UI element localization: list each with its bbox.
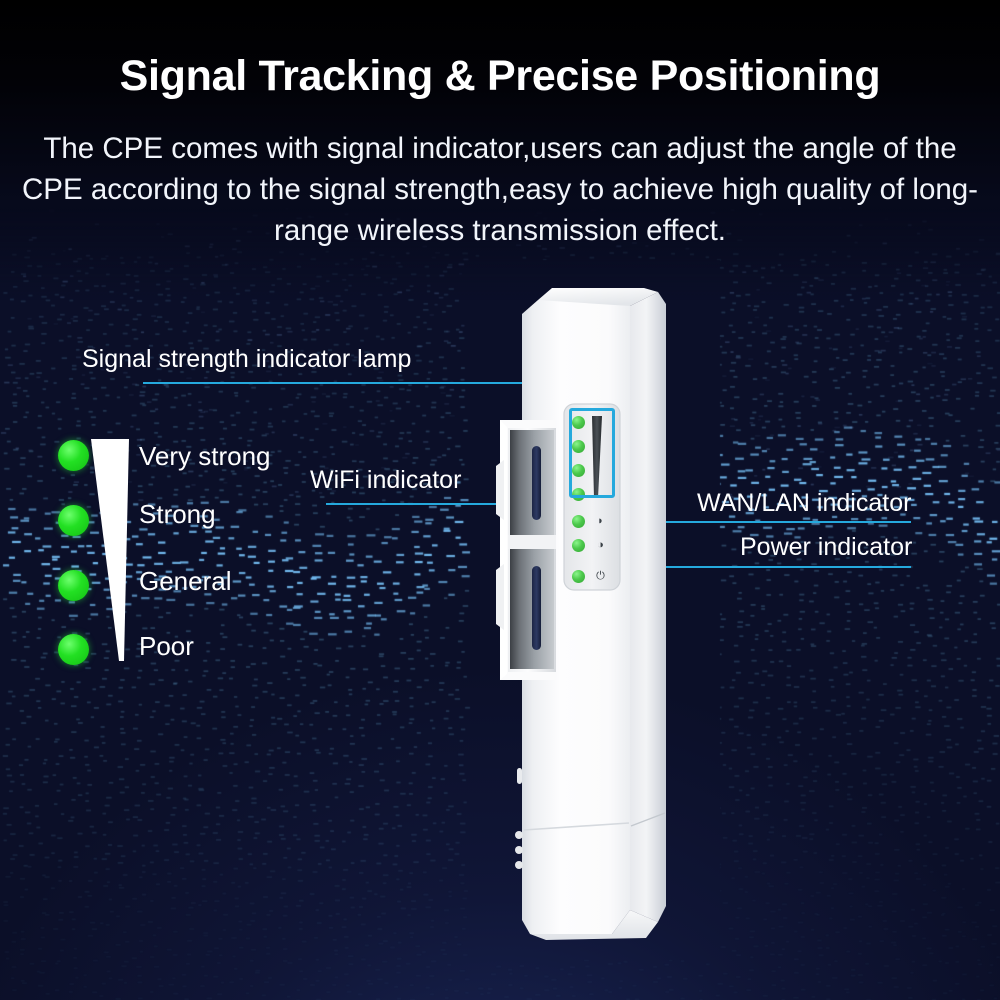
callout-label-wifi: WiFi indicator	[310, 466, 461, 495]
wan-lan-led	[572, 539, 585, 552]
legend-label-poor: Poor	[139, 631, 194, 662]
device-side-face	[630, 292, 666, 922]
power-icon: ⏻	[594, 570, 607, 583]
legend-dot-general	[58, 570, 89, 601]
callout-label-wan-lan: WAN/LAN indicator	[697, 489, 911, 518]
legend-label-very-strong: Very strong	[139, 441, 271, 472]
signal-strength-wedge	[88, 437, 132, 663]
device-screw-1	[515, 831, 523, 839]
legend-label-general: General	[139, 566, 232, 597]
power-led	[572, 570, 585, 583]
legend-dot-very-strong	[58, 440, 89, 471]
legend-label-strong: Strong	[139, 499, 216, 530]
callout-label-power: Power indicator	[740, 533, 912, 562]
cpe-device: ◗ ◑ ⏻	[460, 270, 720, 950]
page-title: Signal Tracking & Precise Positioning	[0, 52, 1000, 101]
signal-lamp-highlight-box	[569, 408, 615, 498]
wifi-led	[572, 515, 585, 528]
device-screw-2	[515, 846, 523, 854]
callout-label-signal-lamp: Signal strength indicator lamp	[82, 345, 411, 374]
device-vent-slot	[517, 768, 522, 784]
legend-dot-poor	[58, 634, 89, 665]
device-port-housing	[496, 420, 556, 680]
page-subtitle: The CPE comes with signal indicator,user…	[18, 128, 982, 251]
ethernet-icon: ◑	[594, 539, 607, 552]
device-screw-3	[515, 861, 523, 869]
wifi-icon: ◗	[594, 515, 607, 528]
infographic-canvas: Signal Tracking & Precise Positioning Th…	[0, 0, 1000, 1000]
legend-dot-strong	[58, 505, 89, 536]
